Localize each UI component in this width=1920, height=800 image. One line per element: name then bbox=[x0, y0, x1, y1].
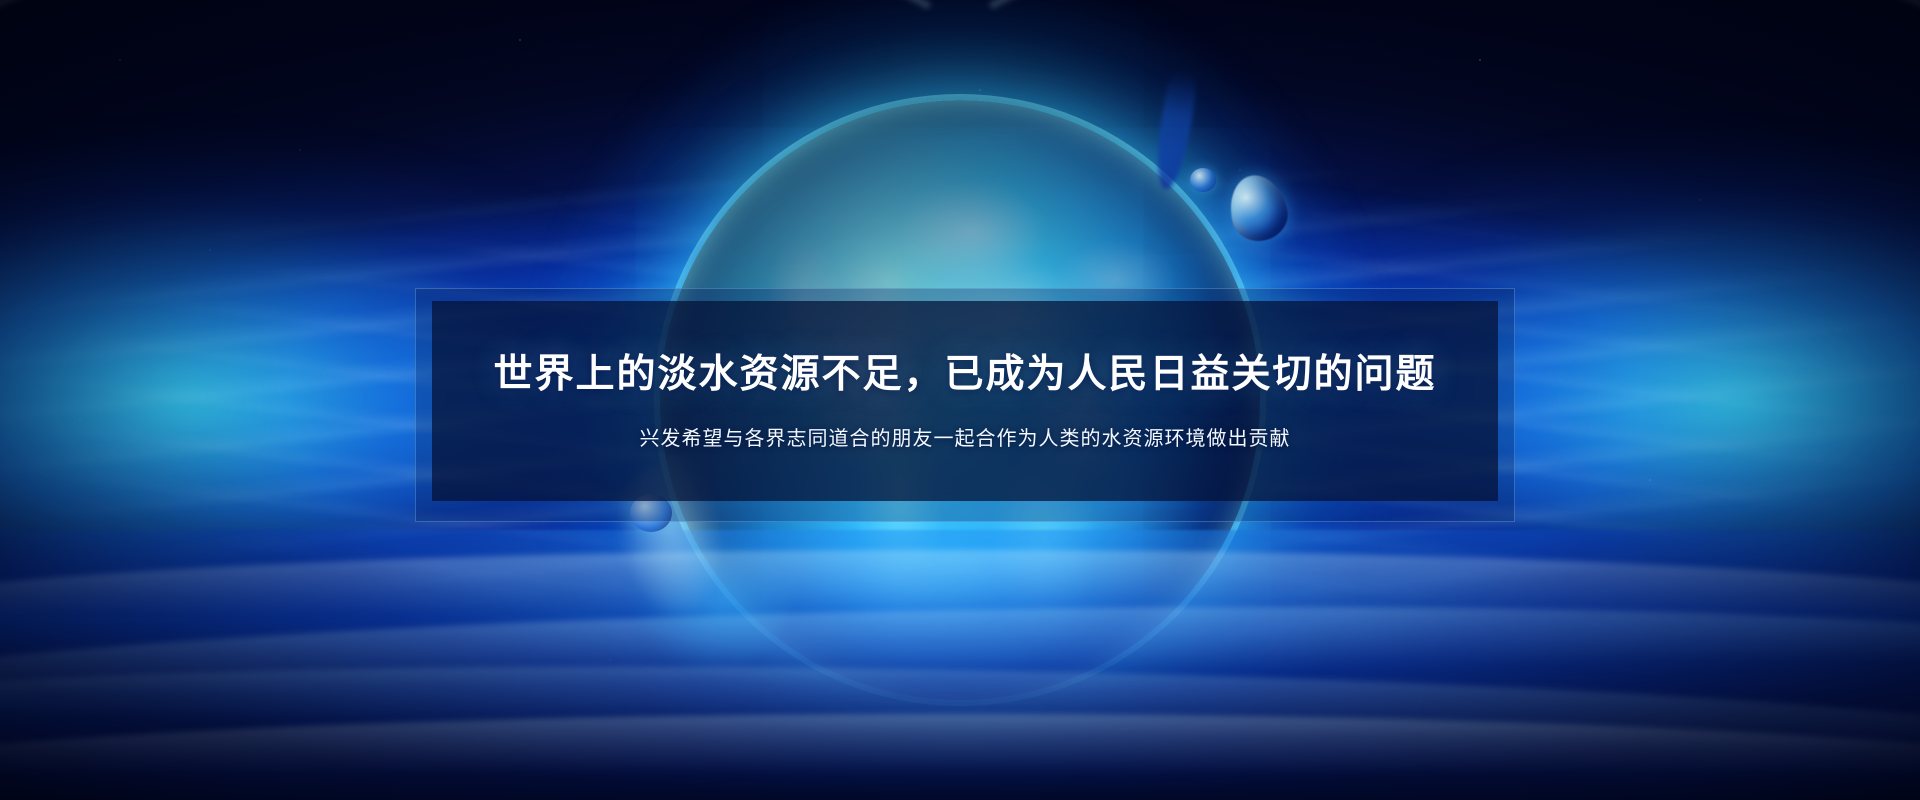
wave-4 bbox=[0, 714, 1920, 800]
banner-headline: 世界上的淡水资源不足，已成为人民日益关切的问题 bbox=[493, 351, 1436, 400]
water-droplet-small bbox=[1190, 168, 1216, 192]
liquid-pool bbox=[0, 530, 1920, 800]
water-resources-banner: 世界上的淡水资源不足，已成为人民日益关切的问题 兴发希望与各界志同道合的朋友一起… bbox=[0, 0, 1920, 800]
banner-subline: 兴发希望与各界志同道合的朋友一起合作为人类的水资源环境做出贡献 bbox=[640, 422, 1291, 451]
overlay-text-panel: 世界上的淡水资源不足，已成为人民日益关切的问题 兴发希望与各界志同道合的朋友一起… bbox=[432, 301, 1498, 501]
